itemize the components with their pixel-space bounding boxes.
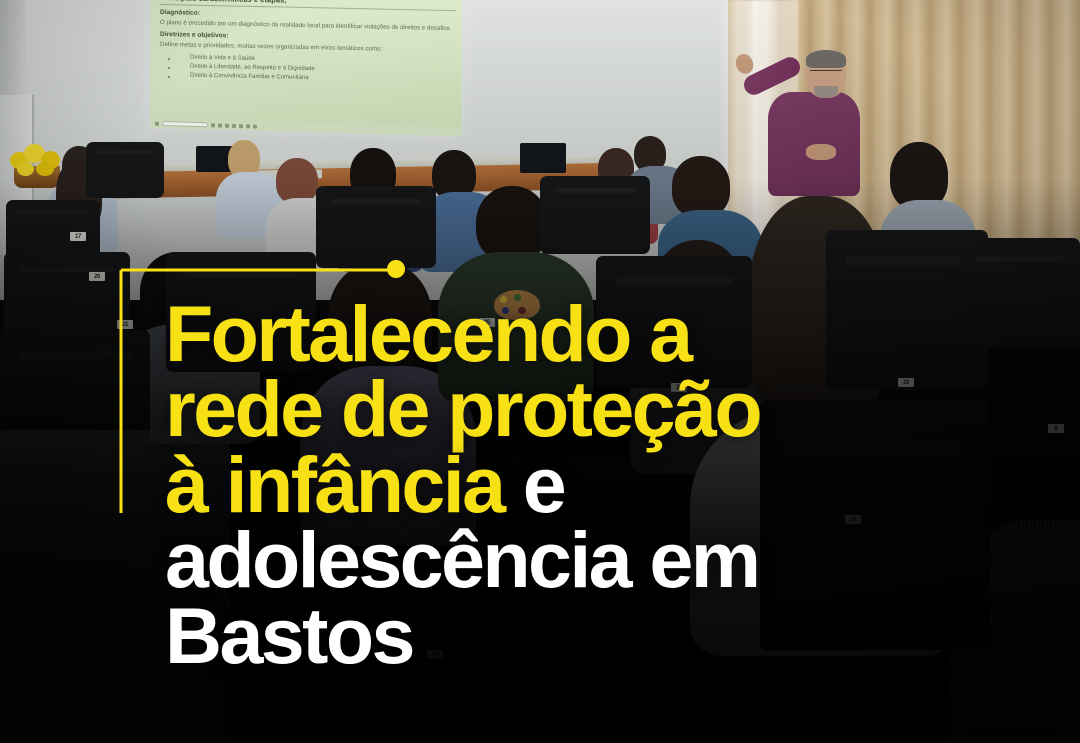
poster-root: Principais características e etapas; Dia… (0, 0, 1080, 743)
taskbar-icon (232, 123, 236, 127)
start-icon (155, 121, 159, 125)
chair (960, 238, 1080, 348)
glasses-icon (810, 70, 842, 76)
chair-tag: 17 (70, 232, 86, 241)
taskbar-icon (253, 124, 257, 128)
slide-bullet-list: Direito à Vida e à Saúde Direito à Liber… (160, 53, 456, 86)
headline-line-3: à infância e (165, 447, 925, 522)
projection-screen: Principais características e etapas; Dia… (150, 0, 462, 136)
page-title: Fortalecendo a rede de proteção à infânc… (165, 296, 925, 673)
taskbar-search-box (162, 121, 208, 128)
chair (540, 176, 650, 254)
presenter-hair (806, 50, 846, 68)
flower (17, 162, 34, 176)
taskbar-icon (211, 123, 215, 127)
chair-tag: 8 (1048, 424, 1064, 433)
presenter-beard (814, 86, 838, 98)
chair (316, 186, 436, 268)
presenter-hand (806, 144, 836, 160)
chair-tag: 21 (117, 320, 133, 329)
headline-line-1: Fortalecendo a (165, 296, 925, 371)
taskbar-icon (218, 123, 222, 127)
headline-line-4: adolescência em (165, 522, 925, 597)
chair-tag: 26 (89, 272, 105, 281)
chair (86, 142, 164, 198)
taskbar-icon (225, 123, 229, 127)
monitor (520, 143, 566, 173)
headline-line-2: rede de proteção (165, 371, 925, 446)
slide-content: Principais características e etapas; Dia… (160, 0, 456, 86)
taskbar-icon (246, 124, 250, 128)
flower (36, 162, 54, 176)
headline-line-5: Bastos (165, 598, 925, 673)
taskbar-icon (239, 124, 243, 128)
